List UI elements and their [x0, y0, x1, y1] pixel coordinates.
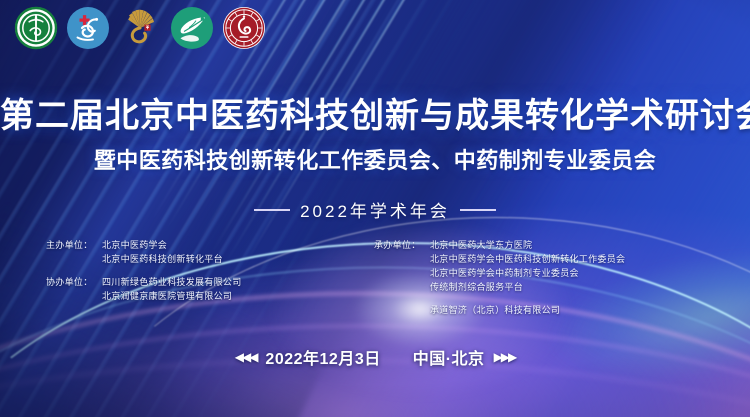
organizer-line: 承办单位： 北京中医药大学东方医院 [374, 238, 704, 252]
organizer-label-spacer [46, 252, 102, 266]
footer-date: 2022年12月3日 [265, 345, 380, 369]
banner-footer: ◀◀◀ 2022年12月3日 中国·北京 ▶▶▶ [0, 345, 750, 369]
organizer-line: 承道智济（北京）科技有限公司 [374, 303, 704, 317]
organizer-line: 北京中医药学会中药制剂专业委员会 [374, 266, 704, 280]
conference-banner: 第二届北京中医药科技创新与成果转化学术研讨会 暨中医药科技创新转化工作委员会、中… [0, 0, 750, 417]
footer-location: 中国·北京 [413, 345, 485, 369]
organizer-line: 协办单位： 四川新绿色药业科技发展有限公司 [46, 275, 346, 289]
organizers-column-right: 承办单位： 北京中医药大学东方医院 北京中医药学会中医药科技创新转化工作委员会 … [374, 238, 704, 326]
organizer-value: 北京中医药学会 [102, 238, 346, 252]
banner-title-main: 第二届北京中医药科技创新与成果转化学术研讨会 [0, 94, 750, 138]
organizer-value: 北京润健京康医院管理有限公司 [102, 289, 346, 303]
banner-content: 第二届北京中医药科技创新与成果转化学术研讨会 暨中医药科技创新转化工作委员会、中… [0, 0, 750, 417]
organizer-line: 传统制剂综合服务平台 [374, 280, 704, 294]
year-text: 2022年学术年会 [300, 197, 450, 222]
organizer-value: 传统制剂综合服务平台 [430, 280, 704, 294]
organizer-label-spacer [374, 303, 430, 317]
organizer-line: 北京中医药学会中医药科技创新转化工作委员会 [374, 252, 704, 266]
organizer-line: 北京中医药科技创新转化平台 [46, 252, 346, 266]
organizer-line: 北京润健京康医院管理有限公司 [46, 289, 346, 303]
year-line: 2022年学术年会 [0, 197, 750, 222]
organizer-group-coorganizer: 协办单位： 四川新绿色药业科技发展有限公司 北京润健京康医院管理有限公司 [46, 275, 346, 303]
organizer-value: 四川新绿色药业科技发展有限公司 [102, 275, 346, 289]
organizer-value: 承道智济（北京）科技有限公司 [430, 303, 704, 317]
banner-title-sub: 暨中医药科技创新转化工作委员会、中药制剂专业委员会 [0, 146, 750, 176]
organizer-label-spacer [374, 266, 430, 280]
organizer-label: 主办单位： [46, 238, 102, 252]
left-arrows-icon: ◀◀◀ [235, 351, 257, 363]
organizer-label-spacer [374, 280, 430, 294]
year-rule-right [460, 209, 496, 211]
organizers-column-left: 主办单位： 北京中医药学会 北京中医药科技创新转化平台 协办单位： 四川新绿色药… [46, 238, 346, 326]
organizer-group-host: 主办单位： 北京中医药学会 北京中医药科技创新转化平台 [46, 238, 346, 266]
right-arrows-icon: ▶▶▶ [494, 351, 516, 363]
organizer-group-support: 承道智济（北京）科技有限公司 [374, 303, 704, 317]
organizer-label-spacer [374, 252, 430, 266]
organizer-group-undertaker: 承办单位： 北京中医药大学东方医院 北京中医药学会中医药科技创新转化工作委员会 … [374, 238, 704, 294]
organizer-value: 北京中医药学会中药制剂专业委员会 [430, 266, 704, 280]
organizer-label: 协办单位： [46, 275, 102, 289]
organizer-value: 北京中医药学会中医药科技创新转化工作委员会 [430, 252, 704, 266]
organizers-section: 主办单位： 北京中医药学会 北京中医药科技创新转化平台 协办单位： 四川新绿色药… [0, 238, 750, 326]
organizer-value: 北京中医药大学东方医院 [430, 238, 704, 252]
organizer-line: 主办单位： 北京中医药学会 [46, 238, 346, 252]
organizer-label: 承办单位： [374, 238, 430, 252]
organizer-value: 北京中医药科技创新转化平台 [102, 252, 346, 266]
organizer-label-spacer [46, 289, 102, 303]
year-rule-left [254, 209, 290, 211]
